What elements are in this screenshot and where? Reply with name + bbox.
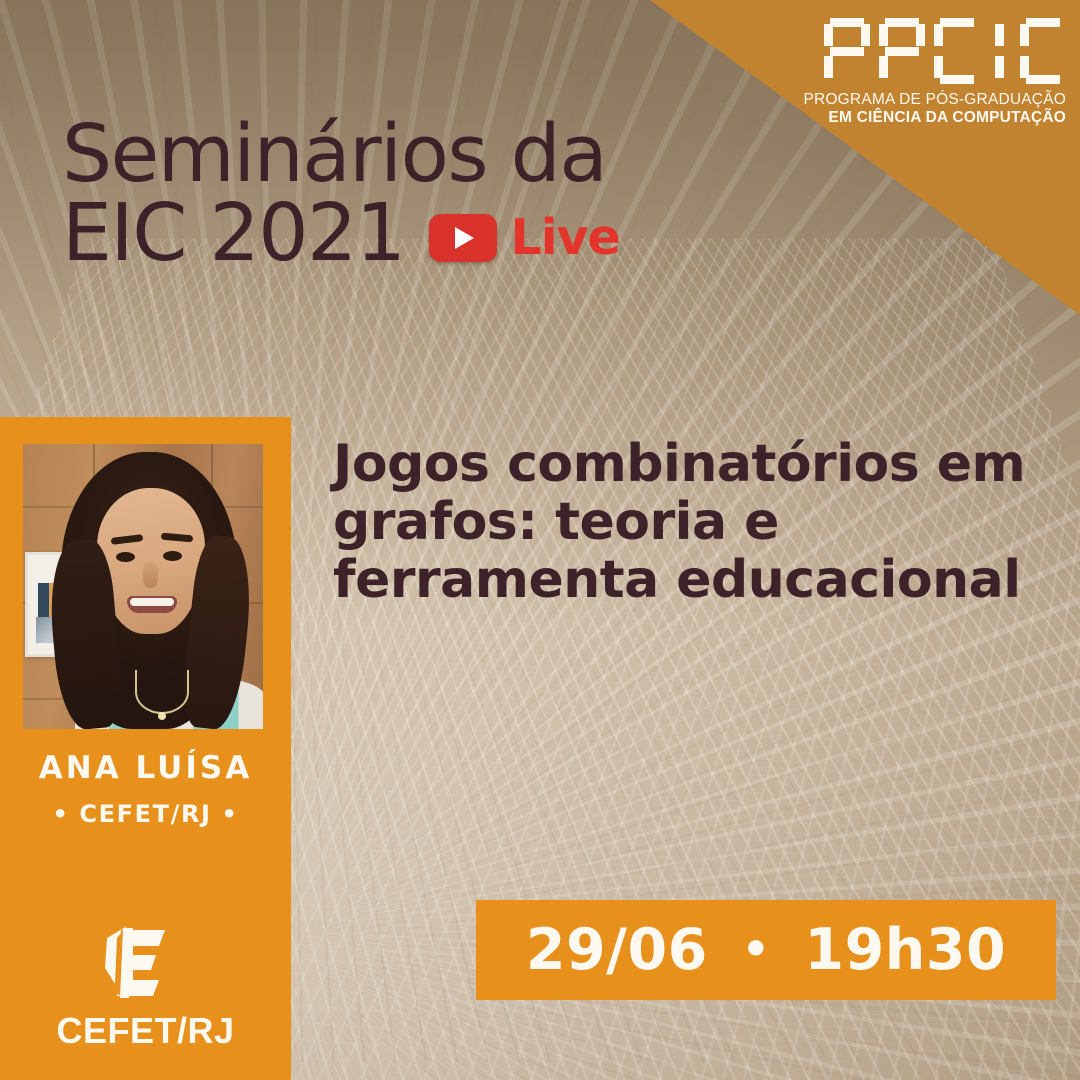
ppcic-subtitle-line1: PROGRAMA DE PÓS-GRADUAÇÃO [803, 91, 1066, 109]
photo-necklace [135, 670, 189, 714]
youtube-play-icon[interactable] [429, 214, 497, 262]
headline-line-2: EIC 2021 [62, 197, 405, 270]
talk-title: Jogos combinatórios em grafos: teoria e … [333, 435, 1073, 610]
seminar-poster: PROGRAMA DE PÓS-GRADUAÇÃO EM CIÊNCIA DA … [0, 0, 1080, 1080]
cefet-e-monogram-icon [87, 924, 205, 1002]
ppcic-wordmark-icon [803, 18, 1066, 84]
photo-eye-left [116, 552, 135, 562]
cefet-logo: CEFET/RJ [0, 924, 291, 1052]
photo-eye-right [163, 551, 182, 561]
speaker-sidebar: ANA LUÍSA • CEFET/RJ • CEFET/RJ [0, 417, 291, 1080]
photo-teeth [130, 598, 174, 606]
headline-line-2-row: EIC 2021 Live [62, 197, 620, 270]
speaker-name: ANA LUÍSA [0, 750, 291, 786]
live-label: Live [511, 215, 620, 261]
ppcic-logo: PROGRAMA DE PÓS-GRADUAÇÃO EM CIÊNCIA DA … [803, 18, 1066, 128]
schedule-banner: 29/06 • 19h30 [476, 900, 1056, 1000]
ppcic-subtitle-line2: EM CIÊNCIA DA COMPUTAÇÃO [803, 109, 1066, 127]
photo-necklace-pendant [158, 712, 166, 720]
photo-nose [143, 562, 158, 588]
schedule-separator: • [742, 928, 771, 972]
schedule-time: 19h30 [804, 917, 1006, 983]
poster-headline: Seminários da EIC 2021 Live [62, 118, 620, 271]
schedule-date: 29/06 [526, 917, 708, 983]
headline-line-1: Seminários da [62, 118, 620, 191]
youtube-live-badge[interactable]: Live [429, 214, 620, 262]
cefet-logo-text: CEFET/RJ [0, 1010, 291, 1052]
speaker-photo [23, 444, 263, 729]
speaker-affiliation: • CEFET/RJ • [0, 800, 291, 828]
